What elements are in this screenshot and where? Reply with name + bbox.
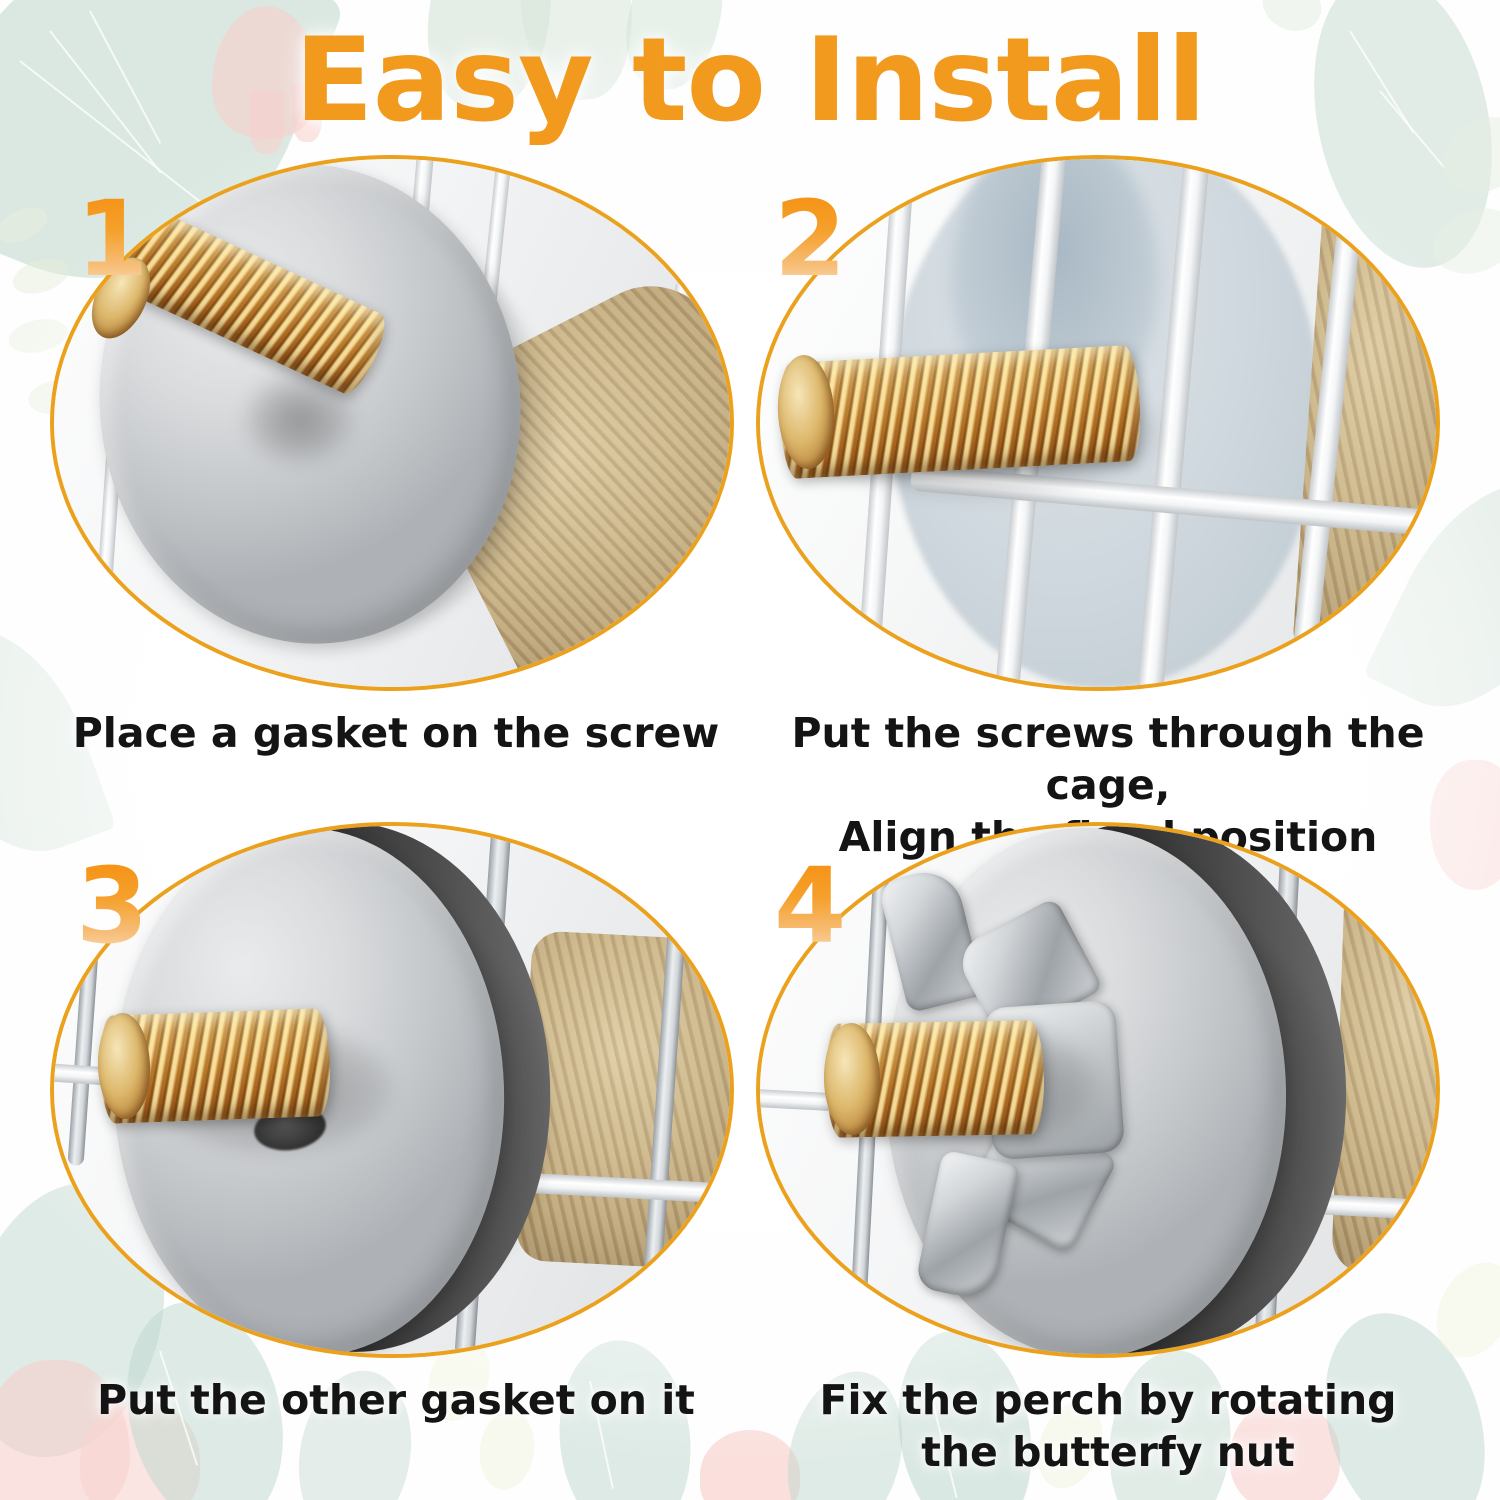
photo-wing-nut [760, 826, 1436, 1354]
step-number-3: 3 [76, 854, 148, 958]
step-photo-4 [756, 822, 1440, 1358]
step-caption-1: Place a gasket on the screw [36, 707, 756, 759]
caption-line: the butterfy nut [748, 1426, 1468, 1478]
photo-second-gasket [54, 826, 730, 1354]
photo-gasket-on-screw [54, 159, 730, 687]
step-photo-2 [756, 155, 1440, 691]
step-caption-4: Fix the perch by rotating the butterfy n… [748, 1374, 1468, 1478]
step-caption-3: Put the other gasket on it [36, 1374, 756, 1426]
step-number-4: 4 [774, 854, 846, 958]
step-number-2: 2 [774, 187, 846, 291]
step-number-1: 1 [76, 187, 148, 291]
caption-line: Put the screws through the cage, [748, 707, 1468, 811]
infographic-page: Easy to Install 1 [0, 0, 1500, 1500]
caption-line: Put the other gasket on it [36, 1374, 756, 1426]
step-photo-1 [50, 155, 734, 691]
page-title: Easy to Install [0, 18, 1500, 143]
caption-line: Fix the perch by rotating [748, 1374, 1468, 1426]
photo-screw-through-cage [760, 159, 1436, 687]
caption-line: Place a gasket on the screw [36, 707, 756, 759]
step-photo-3 [50, 822, 734, 1358]
